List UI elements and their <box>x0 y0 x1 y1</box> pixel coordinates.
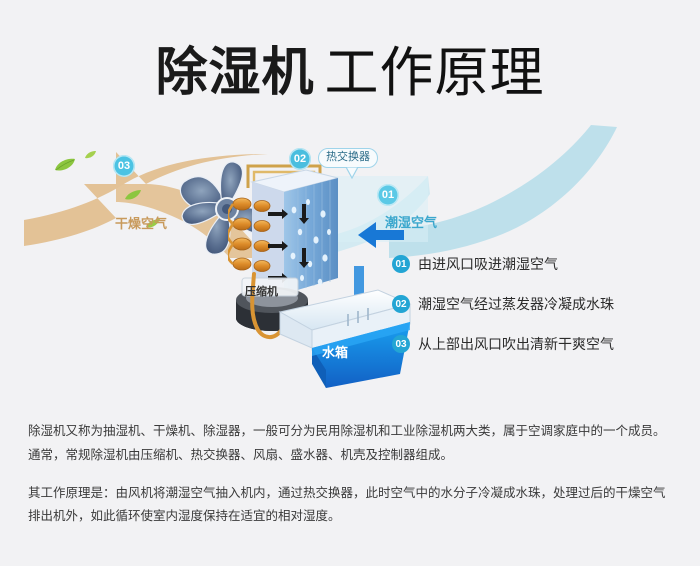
page-title: 除湿机工作原理 <box>0 28 700 107</box>
legend-item: 01 由进风口吸进潮湿空气 <box>392 255 692 273</box>
humid-air-label: 潮湿空气 <box>385 212 437 231</box>
legend-item: 03 从上部出风口吹出清新干爽空气 <box>392 335 692 353</box>
illustration-badge-03: 03 <box>113 155 135 177</box>
dry-air-label: 干燥空气 <box>115 213 167 232</box>
legend-text-02: 潮湿空气经过蒸发器冷凝成水珠 <box>418 297 614 311</box>
legend-badge-01: 01 <box>392 255 410 273</box>
description-paragraph-1: 除湿机又称为抽湿机、干燥机、除湿器，一般可分为民用除湿机和工业除湿机两大类，属于… <box>28 420 676 468</box>
legend-text-01: 由进风口吸进潮湿空气 <box>418 257 558 271</box>
heat-exchanger-callout-label: 热交换器 <box>326 151 370 163</box>
water-tank-label: 水箱 <box>322 342 348 361</box>
steps-legend: 01 由进风口吸进潮湿空气 02 潮湿空气经过蒸发器冷凝成水珠 03 从上部出风… <box>392 255 692 375</box>
compressor-label: 压缩机 <box>245 283 278 299</box>
page-title-main: 除湿机 <box>155 44 314 102</box>
legend-badge-03: 03 <box>392 335 410 353</box>
illustration-badge-01: 01 <box>377 184 399 206</box>
page-title-sub: 工作原理 <box>325 43 545 103</box>
leaf-icon <box>85 146 96 164</box>
leaf-icon <box>54 158 76 177</box>
leaf-icon <box>125 188 141 206</box>
page-root: 除湿机工作原理 <box>0 0 700 566</box>
legend-text-03: 从上部出风口吹出清新干爽空气 <box>418 337 614 351</box>
description-paragraph-2: 其工作原理是：由风机将潮湿空气抽入机内，通过热交换器，此时空气中的水分子冷凝成水… <box>28 482 676 530</box>
heat-exchanger-callout: 热交换器 <box>318 148 378 168</box>
illustration-badge-02: 02 <box>289 148 311 170</box>
callout-tail-icon <box>345 166 359 178</box>
legend-item: 02 潮湿空气经过蒸发器冷凝成水珠 <box>392 295 692 313</box>
description-copy: 除湿机又称为抽湿机、干燥机、除湿器，一般可分为民用除湿机和工业除湿机两大类，属于… <box>28 420 676 529</box>
legend-badge-02: 02 <box>392 295 410 313</box>
